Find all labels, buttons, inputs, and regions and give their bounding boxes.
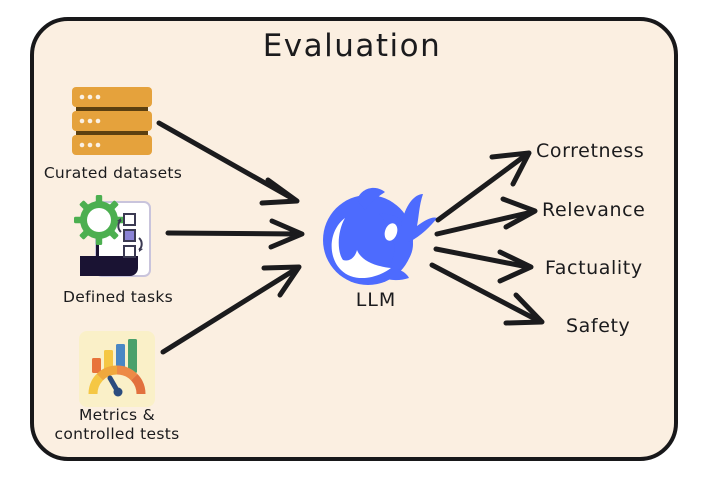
input-label-metrics: Metrics & controlled tests [28, 406, 206, 444]
diagram-canvas: Evaluation Curated datasets [0, 0, 704, 488]
input-label-defined-tasks: Defined tasks [38, 288, 198, 307]
input-label-metrics-line2: controlled tests [55, 425, 180, 443]
input-label-curated-datasets: Curated datasets [33, 164, 193, 183]
whale-icon [313, 186, 438, 291]
output-label-relevance: Relevance [542, 199, 645, 221]
metrics-gauge-icon [79, 331, 155, 407]
output-label-safety: Safety [566, 315, 630, 337]
page-title: Evaluation [0, 28, 704, 64]
database-icon [70, 86, 156, 156]
workflow-gear-icon [76, 198, 160, 282]
output-label-corretness: Corretness [536, 140, 644, 162]
center-label-llm: LLM [316, 289, 436, 311]
input-label-metrics-line1: Metrics & [79, 406, 155, 424]
output-label-factuality: Factuality [545, 257, 643, 279]
